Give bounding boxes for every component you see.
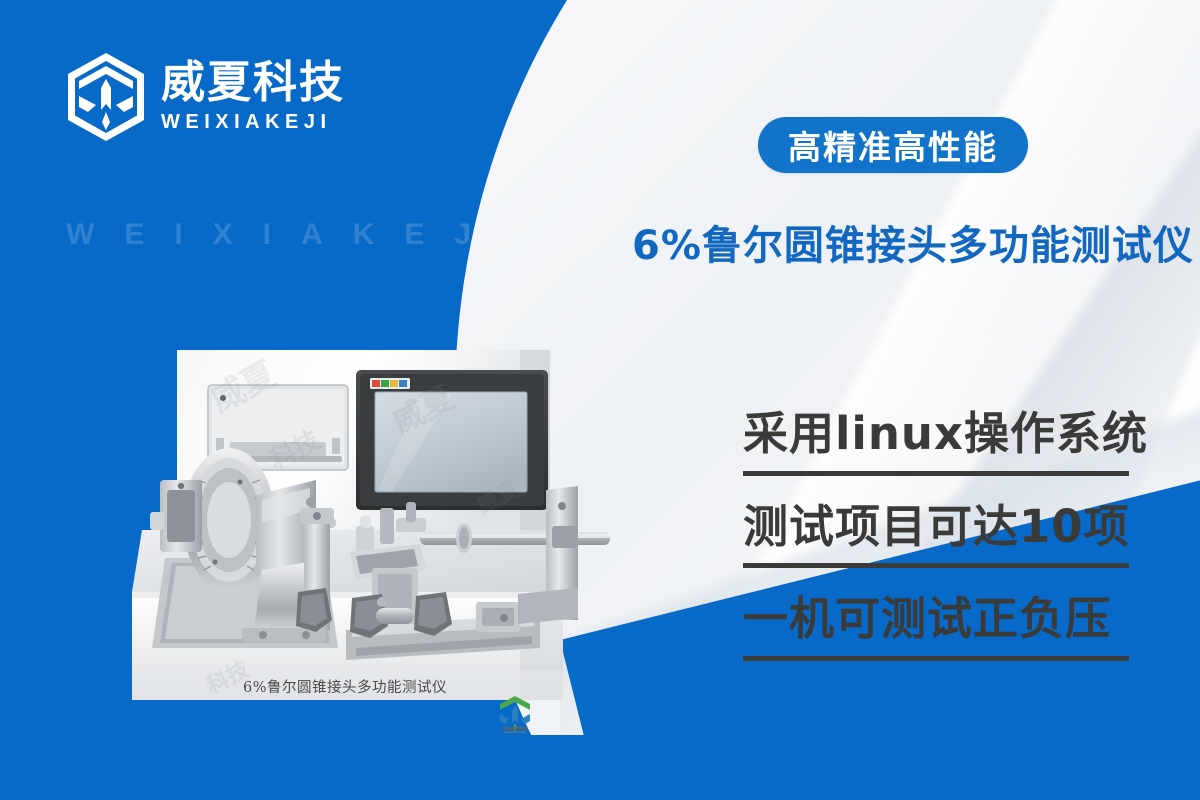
brand-name-cn: 威夏科技 xyxy=(161,60,345,106)
product-title: 6%鲁尔圆锥接头多功能测试仪 xyxy=(632,213,1194,271)
feature-item-3: 一机可测试正负压 xyxy=(743,590,1133,661)
feature-label-1: 采用linux操作系统 xyxy=(743,405,1133,463)
brand-logo-text: 威夏科技 WEIXIAKEJI xyxy=(161,60,345,134)
highlight-badge: 高精准高性能 xyxy=(758,117,1028,173)
background-watermark-text: WEIXIAKEJI xyxy=(66,218,539,252)
feature-label-2: 测试项目可达10项 xyxy=(743,498,1133,556)
hexagon-chevron-logo-icon xyxy=(65,52,147,142)
feature-list: 采用linux操作系统 测试项目可达10项 一机可测试正负压 xyxy=(743,405,1133,683)
machine-front-panel-label: 6%鲁尔圆锥接头多功能测试仪 xyxy=(243,676,447,697)
feature-divider-2 xyxy=(743,563,1129,568)
feature-label-3: 一机可测试正负压 xyxy=(743,590,1133,648)
highlight-badge-label: 高精准高性能 xyxy=(788,121,998,169)
touchscreen-hmi-icon xyxy=(356,370,548,510)
machine-panel-logo-icon xyxy=(495,693,535,735)
brand-logo: 威夏科技 WEIXIAKEJI xyxy=(65,52,345,142)
feature-divider-1 xyxy=(743,471,1129,476)
brand-name-en: WEIXIAKEJI xyxy=(161,110,345,134)
feature-divider-3 xyxy=(743,656,1129,661)
hmi-brand-strip-icon xyxy=(370,378,410,389)
feature-item-1: 采用linux操作系统 xyxy=(743,405,1133,476)
feature-item-2: 测试项目可达10项 xyxy=(743,498,1133,569)
product-banner: WEIXIAKEJI 威夏科技 WEIXIAKEJI 高精准高性能 6%鲁尔圆锥… xyxy=(0,0,1200,800)
